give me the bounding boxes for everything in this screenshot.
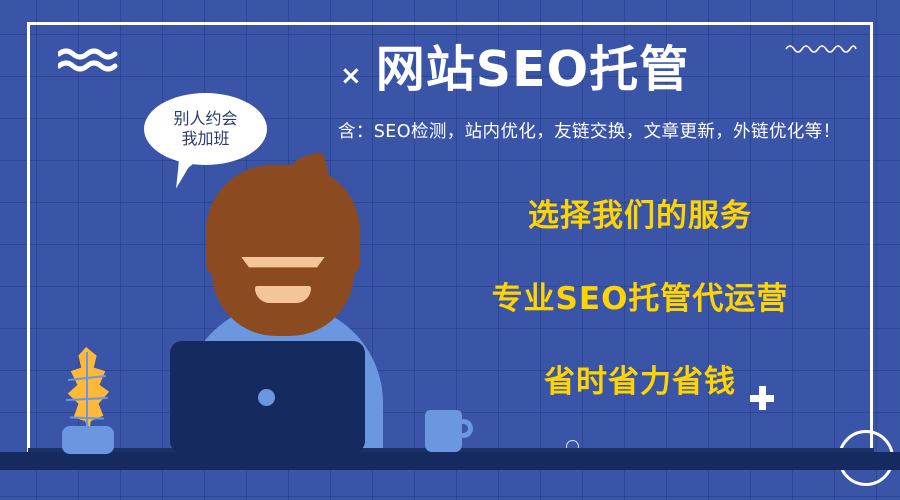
speech-bubble: 别人约会 我加班 [144, 93, 267, 165]
speech-bubble-line-2: 我加班 [181, 129, 229, 149]
plant-pot [62, 426, 114, 454]
laptop-logo-dot [258, 389, 275, 406]
person-hair-side-right [334, 215, 360, 277]
speech-bubble-line-1: 别人约会 [173, 109, 237, 129]
desk-surface [0, 452, 900, 470]
person-hair-side-left [206, 215, 232, 277]
seo-promo-banner: × 网站SEO托管 含：SEO检测，站内优化，友链交换，文章更新，外链优化等！ … [0, 0, 900, 500]
person-mouth [255, 286, 311, 303]
